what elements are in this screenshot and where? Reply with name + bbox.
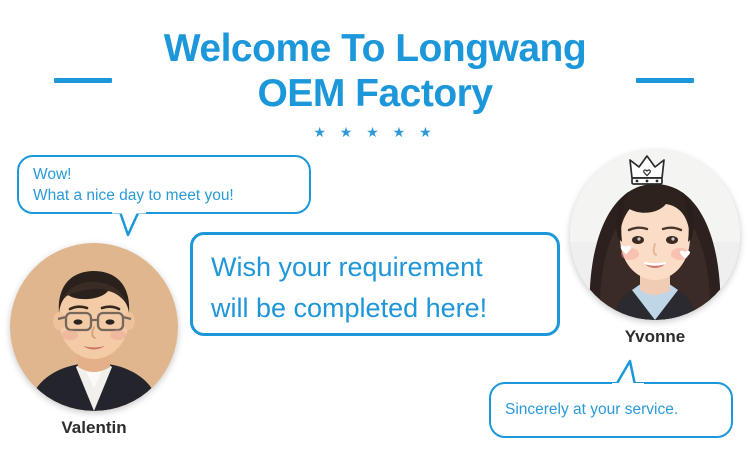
bubble-sincerely-line-1: Sincerely at your service. — [505, 399, 731, 421]
person-name-yvonne: Yvonne — [570, 327, 740, 347]
bubble-main-line-1: Wish your requirement — [211, 247, 557, 288]
person-name-valentin: Valentin — [10, 418, 178, 438]
bubble-wow-line-1: Wow! — [33, 164, 309, 185]
title-line-1: Welcome To Longwang — [0, 26, 750, 71]
speech-bubble-wow: Wow! What a nice day to meet you! — [17, 155, 311, 214]
bubble-main-line-2: will be completed here! — [211, 288, 557, 329]
title-rule-left-icon — [54, 78, 112, 83]
title-rule-right-icon — [636, 78, 694, 83]
speech-bubble-main: Wish your requirement will be completed … — [190, 232, 560, 336]
avatar — [10, 243, 178, 411]
person-card-valentin: Valentin — [10, 243, 178, 438]
promo-banner: Welcome To Longwang OEM Factory ★ ★ ★ ★ … — [0, 0, 750, 462]
portrait-yvonne-icon — [570, 150, 740, 320]
speech-bubble-sincerely: Sincerely at your service. — [489, 382, 733, 438]
bubble-wow-line-2: What a nice day to meet you! — [33, 185, 309, 206]
speech-bubble-wow-tail-icon — [112, 211, 152, 237]
speech-bubble-sincerely-tail-icon — [612, 358, 648, 386]
person-card-yvonne: Yvonne — [570, 150, 740, 347]
page-title: Welcome To Longwang OEM Factory — [0, 26, 750, 116]
portrait-valentin-icon — [10, 243, 178, 411]
avatar — [570, 150, 740, 320]
star-rating-icon: ★ ★ ★ ★ ★ — [0, 124, 750, 140]
